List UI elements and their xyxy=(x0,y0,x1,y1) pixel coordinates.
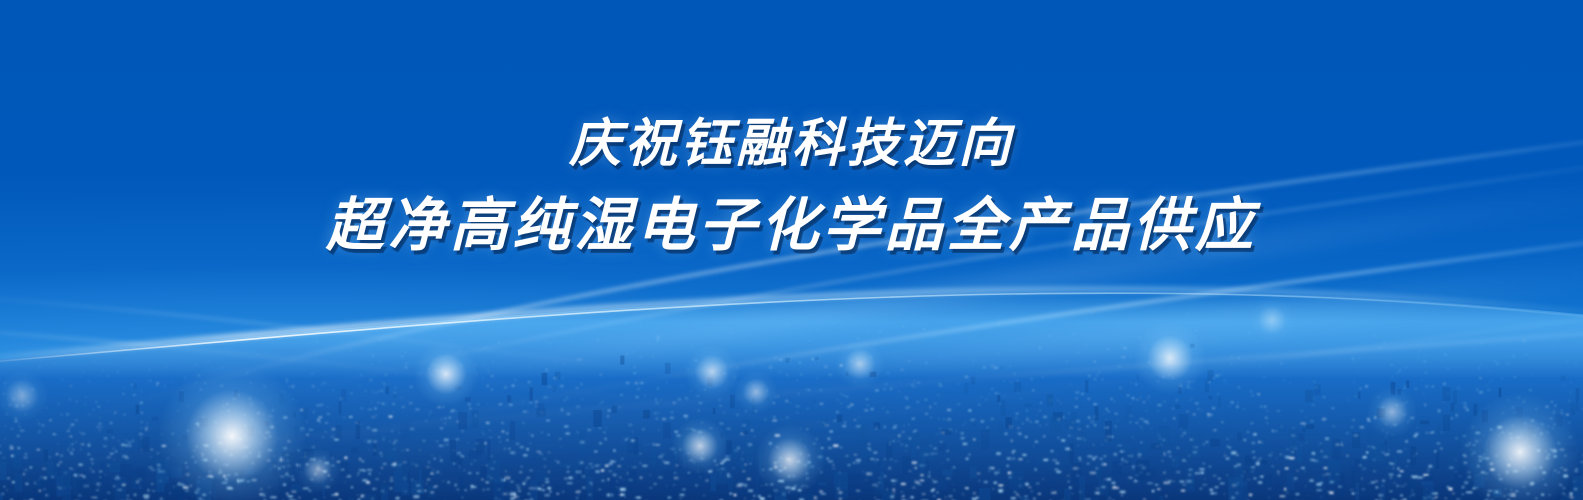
city-light xyxy=(1481,472,1485,474)
city-light xyxy=(1046,424,1048,425)
city-building xyxy=(552,386,556,392)
city-light xyxy=(459,351,460,352)
city-light xyxy=(1095,456,1098,457)
city-light xyxy=(244,437,246,438)
city-light xyxy=(92,470,94,472)
city-light xyxy=(1410,417,1414,418)
city-light xyxy=(1425,386,1428,387)
city-light xyxy=(390,477,392,478)
city-light xyxy=(1238,402,1239,403)
city-light xyxy=(632,351,633,352)
city-light xyxy=(24,449,25,450)
city-light xyxy=(440,419,442,420)
city-building xyxy=(13,450,21,468)
city-building xyxy=(1137,397,1141,400)
city-light xyxy=(178,444,179,445)
city-building xyxy=(874,422,880,429)
city-light xyxy=(903,425,904,426)
city-light xyxy=(442,406,444,407)
city-light xyxy=(265,437,266,438)
city-light xyxy=(1385,424,1387,425)
city-light xyxy=(777,461,780,462)
city-light xyxy=(920,480,924,482)
city-building xyxy=(818,449,824,461)
city-light xyxy=(1267,423,1269,424)
city-building xyxy=(937,482,947,490)
city-light xyxy=(935,403,937,404)
city-light xyxy=(60,414,63,415)
city-building xyxy=(677,448,682,470)
city-light xyxy=(37,420,38,421)
city-light xyxy=(682,489,685,490)
city-light xyxy=(1090,472,1096,475)
city-light xyxy=(415,409,419,410)
city-light xyxy=(444,418,446,419)
city-light xyxy=(906,398,909,399)
city-light xyxy=(1476,441,1479,442)
city-light xyxy=(776,446,778,447)
city-light xyxy=(257,455,260,457)
city-light xyxy=(858,417,859,418)
city-light xyxy=(1479,392,1482,393)
city-light xyxy=(390,480,394,481)
city-light xyxy=(131,384,133,385)
city-building xyxy=(1020,497,1028,500)
city-light xyxy=(752,364,753,365)
city-light xyxy=(313,446,315,447)
city-light xyxy=(1213,430,1216,431)
city-light xyxy=(1566,414,1569,415)
city-building xyxy=(1159,426,1170,446)
city-building xyxy=(1234,467,1243,484)
city-light xyxy=(510,493,515,496)
city-light xyxy=(1204,479,1205,480)
city-light xyxy=(1423,474,1428,476)
city-light xyxy=(1379,348,1381,349)
city-light xyxy=(698,410,700,411)
city-light xyxy=(444,423,445,424)
city-light xyxy=(1176,400,1178,401)
city-light xyxy=(745,411,747,412)
city-light xyxy=(1405,449,1406,450)
city-light xyxy=(1191,397,1192,398)
city-light xyxy=(1513,471,1518,473)
city-light xyxy=(900,370,902,371)
city-light xyxy=(88,381,89,382)
city-light xyxy=(124,387,125,388)
city-light xyxy=(426,467,429,468)
city-light xyxy=(556,362,558,363)
city-building xyxy=(902,456,911,475)
city-building xyxy=(1436,451,1439,469)
city-light xyxy=(670,417,674,418)
city-light xyxy=(1116,427,1117,428)
city-light xyxy=(446,444,448,445)
city-light xyxy=(301,428,305,429)
city-light xyxy=(1148,362,1150,363)
city-light xyxy=(268,449,272,450)
city-building xyxy=(1422,496,1434,500)
city-light xyxy=(185,462,187,463)
city-light xyxy=(450,411,453,412)
city-light xyxy=(471,464,473,465)
city-light xyxy=(786,324,788,325)
city-building xyxy=(1178,386,1181,394)
city-light xyxy=(1322,418,1326,420)
city-light xyxy=(1173,378,1174,379)
city-light xyxy=(1183,484,1186,485)
city-light xyxy=(1106,408,1107,410)
city-light xyxy=(368,442,371,443)
city-light xyxy=(786,400,788,401)
city-light xyxy=(1525,400,1526,401)
city-light xyxy=(544,466,546,467)
city-light xyxy=(1481,364,1482,365)
city-light xyxy=(203,416,204,417)
city-building xyxy=(381,485,388,500)
city-light xyxy=(1075,392,1078,393)
city-light xyxy=(1541,494,1544,496)
city-light xyxy=(564,478,567,479)
city-building xyxy=(1245,456,1253,466)
city-light xyxy=(1518,397,1519,398)
city-light xyxy=(1498,475,1500,476)
city-light xyxy=(192,456,194,457)
city-building xyxy=(1391,382,1396,395)
city-light xyxy=(499,404,502,405)
city-building xyxy=(864,477,872,492)
city-light xyxy=(909,361,910,362)
city-light xyxy=(1387,453,1389,455)
city-light xyxy=(1352,358,1354,359)
city-light xyxy=(377,402,379,403)
city-light xyxy=(564,400,566,401)
city-light xyxy=(368,409,372,410)
city-building xyxy=(964,383,968,393)
city-building xyxy=(1085,496,1100,500)
city-building xyxy=(752,398,755,414)
city-light xyxy=(1230,358,1231,359)
city-light xyxy=(321,470,322,471)
city-light xyxy=(1406,401,1408,403)
city-light xyxy=(1394,424,1397,425)
city-light xyxy=(1251,395,1253,396)
city-light xyxy=(913,386,915,387)
city-light xyxy=(76,401,78,402)
city-light xyxy=(44,477,47,479)
city-light xyxy=(758,495,761,497)
city-building xyxy=(643,410,650,418)
city-light xyxy=(150,380,151,381)
city-light xyxy=(780,359,781,360)
city-light xyxy=(19,390,21,391)
city-building xyxy=(507,395,511,402)
city-light xyxy=(1151,428,1152,429)
city-light xyxy=(1485,458,1489,459)
city-light xyxy=(1197,408,1199,409)
city-light xyxy=(1208,417,1210,418)
city-light xyxy=(867,448,870,449)
city-light xyxy=(122,394,125,395)
city-light xyxy=(1477,456,1478,457)
city-light xyxy=(618,466,621,467)
city-light xyxy=(1195,330,1197,331)
city-light xyxy=(500,442,501,443)
city-light xyxy=(1553,413,1554,414)
city-light xyxy=(761,485,762,486)
city-light xyxy=(324,431,327,432)
city-light xyxy=(724,459,729,461)
city-light xyxy=(901,483,906,485)
city-light xyxy=(688,453,690,454)
city-light xyxy=(204,383,206,384)
city-light xyxy=(1281,426,1282,427)
city-light xyxy=(1515,491,1518,492)
city-light xyxy=(300,431,301,432)
city-light xyxy=(263,414,264,415)
city-light xyxy=(69,447,70,448)
city-light xyxy=(915,481,919,484)
city-light xyxy=(435,364,436,365)
city-building xyxy=(1561,376,1566,381)
city-light xyxy=(296,464,298,465)
city-light xyxy=(1455,471,1456,472)
city-light xyxy=(1495,455,1498,456)
city-light xyxy=(1107,349,1108,350)
city-light xyxy=(994,472,999,473)
city-building xyxy=(686,454,698,477)
city-light xyxy=(212,451,215,452)
city-light xyxy=(1542,425,1545,426)
city-building xyxy=(183,464,187,487)
city-light xyxy=(1069,487,1071,489)
city-light xyxy=(228,427,229,428)
city-light xyxy=(1206,441,1208,442)
city-light xyxy=(709,428,712,429)
city-building xyxy=(335,425,341,439)
city-light xyxy=(257,412,259,414)
city-light xyxy=(370,380,372,381)
city-light xyxy=(383,437,384,438)
city-light xyxy=(113,448,114,449)
city-light xyxy=(796,406,799,407)
city-light xyxy=(409,403,412,404)
city-light xyxy=(103,446,104,447)
city-light xyxy=(788,491,790,492)
city-light xyxy=(900,381,901,382)
city-light xyxy=(862,471,863,472)
city-light xyxy=(550,491,552,493)
city-light xyxy=(729,493,732,495)
city-building xyxy=(1287,473,1295,490)
city-light xyxy=(58,404,59,405)
city-light xyxy=(1563,475,1568,478)
city-light xyxy=(1143,401,1144,402)
city-light xyxy=(567,471,569,472)
city-light xyxy=(1140,419,1144,420)
city-light xyxy=(1075,406,1078,407)
city-light xyxy=(1393,483,1395,484)
city-light xyxy=(766,390,768,391)
city-light xyxy=(208,475,213,477)
city-light xyxy=(474,449,475,450)
city-light xyxy=(832,468,835,469)
city-light xyxy=(257,354,259,355)
city-light xyxy=(627,473,628,475)
city-light xyxy=(770,468,773,469)
city-building xyxy=(455,456,463,467)
city-light xyxy=(901,496,904,497)
city-light xyxy=(1004,395,1005,396)
city-light xyxy=(544,494,549,497)
city-light xyxy=(1546,457,1548,459)
city-light xyxy=(306,434,308,435)
city-light xyxy=(1112,487,1119,489)
city-light xyxy=(872,485,874,486)
city-light xyxy=(440,459,442,461)
city-building xyxy=(1453,391,1457,404)
city-light xyxy=(371,402,373,403)
city-light xyxy=(791,356,792,357)
city-light xyxy=(107,457,111,458)
city-light xyxy=(90,459,93,460)
city-light xyxy=(1521,449,1522,450)
city-light xyxy=(389,416,393,418)
city-light xyxy=(1293,428,1295,429)
city-light xyxy=(1136,422,1139,423)
city-light xyxy=(468,472,472,473)
city-light xyxy=(1163,455,1166,456)
city-light xyxy=(501,422,503,423)
city-light xyxy=(90,468,91,469)
city-light xyxy=(819,389,822,390)
city-light xyxy=(1081,393,1083,394)
city-light xyxy=(745,464,747,465)
city-light xyxy=(1554,424,1556,425)
city-light xyxy=(101,427,103,428)
city-light xyxy=(344,457,347,459)
city-building xyxy=(1306,424,1314,428)
city-light xyxy=(913,431,915,433)
city-light xyxy=(160,498,163,500)
city-light xyxy=(1265,417,1268,418)
city-building xyxy=(926,474,929,477)
city-building xyxy=(134,433,142,448)
city-light xyxy=(149,467,153,469)
city-light xyxy=(1557,443,1559,444)
city-light xyxy=(1478,460,1482,461)
city-building xyxy=(201,459,205,475)
city-building xyxy=(469,450,481,458)
city-light xyxy=(840,394,842,395)
city-light xyxy=(383,383,385,384)
city-light xyxy=(67,431,69,432)
city-light xyxy=(381,467,383,468)
city-light xyxy=(1497,426,1502,428)
city-light xyxy=(443,480,444,481)
city-light xyxy=(425,421,428,422)
city-light xyxy=(1087,455,1092,457)
city-building xyxy=(1470,462,1478,473)
city-light xyxy=(262,434,263,435)
city-light xyxy=(1438,409,1440,411)
city-light xyxy=(946,478,950,479)
city-light xyxy=(382,403,384,405)
city-building xyxy=(341,389,346,401)
city-light xyxy=(557,461,559,463)
city-light xyxy=(912,418,915,419)
city-light xyxy=(567,433,569,434)
city-light xyxy=(1440,448,1443,449)
city-light xyxy=(1215,486,1219,488)
city-light xyxy=(912,461,917,463)
city-light xyxy=(957,404,960,405)
city-light xyxy=(984,481,988,482)
city-light xyxy=(547,487,550,489)
city-building xyxy=(1260,437,1266,452)
city-light xyxy=(1231,356,1232,357)
city-light xyxy=(22,405,23,406)
city-light xyxy=(690,429,693,430)
city-light xyxy=(828,447,832,449)
city-light xyxy=(671,412,673,413)
city-building xyxy=(1151,443,1161,449)
city-light xyxy=(432,469,434,470)
city-light xyxy=(1560,449,1565,450)
city-building xyxy=(798,437,803,452)
city-light xyxy=(882,408,883,409)
city-light xyxy=(561,408,562,409)
city-light xyxy=(1018,458,1022,460)
cityscape-layer xyxy=(0,240,1583,500)
city-light xyxy=(1488,406,1489,407)
city-light xyxy=(477,404,479,405)
city-light xyxy=(1040,402,1042,403)
city-light xyxy=(819,443,820,444)
city-light xyxy=(1421,379,1422,380)
city-light xyxy=(230,454,233,455)
city-light xyxy=(1038,493,1041,495)
city-light xyxy=(850,360,853,361)
city-building xyxy=(969,485,972,500)
city-building xyxy=(1071,412,1078,431)
city-light xyxy=(1122,357,1125,358)
city-light xyxy=(177,411,178,412)
city-light xyxy=(410,386,413,387)
city-building xyxy=(1508,493,1520,496)
city-light xyxy=(1443,383,1445,384)
city-light xyxy=(1040,425,1042,426)
city-light xyxy=(315,355,316,356)
city-building xyxy=(278,479,280,490)
city-light xyxy=(217,429,219,430)
city-building xyxy=(1525,467,1537,473)
city-light xyxy=(857,363,858,364)
city-building xyxy=(1425,476,1433,480)
city-light xyxy=(1428,465,1432,467)
city-building xyxy=(707,377,712,386)
city-light xyxy=(1301,423,1305,425)
city-building xyxy=(1458,467,1470,491)
city-light xyxy=(1563,487,1565,489)
city-light xyxy=(655,399,656,400)
city-light xyxy=(657,337,659,338)
city-building xyxy=(229,491,244,500)
city-light xyxy=(1192,381,1193,382)
city-building xyxy=(939,443,947,451)
city-light xyxy=(42,468,46,470)
city-light xyxy=(114,414,115,415)
